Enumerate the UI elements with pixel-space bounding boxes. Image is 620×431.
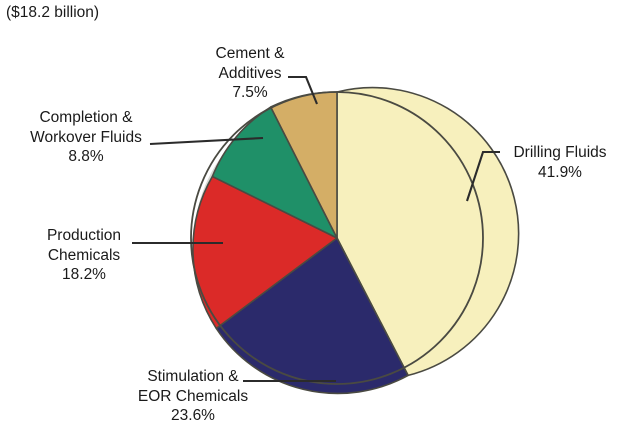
slice-label-completion-workover-fluids-percent: 8.8% bbox=[8, 147, 164, 167]
slice-label-drilling-fluids-line1: Drilling Fluids bbox=[504, 143, 616, 163]
slice-label-stimulation-eor-chemicals-line2: EOR Chemicals bbox=[108, 387, 278, 407]
slice-label-stimulation-eor-chemicals-percent: 23.6% bbox=[108, 406, 278, 426]
slice-label-drilling-fluids-percent: 41.9% bbox=[504, 163, 616, 183]
slice-label-cement-additives-line2: Additives bbox=[196, 64, 304, 84]
slice-label-cement-additives-percent: 7.5% bbox=[196, 83, 304, 103]
slice-label-stimulation-eor-chemicals: Stimulation & EOR Chemicals 23.6% bbox=[108, 367, 278, 426]
slice-label-production-chemicals-percent: 18.2% bbox=[20, 265, 148, 285]
pie-chart-figure: ($18.2 billion) Cem bbox=[0, 0, 620, 431]
slice-label-cement-additives: Cement & Additives 7.5% bbox=[196, 44, 304, 103]
slice-label-production-chemicals-line1: Production bbox=[20, 226, 148, 246]
slice-label-drilling-fluids: Drilling Fluids 41.9% bbox=[504, 143, 616, 182]
slice-label-production-chemicals: Production Chemicals 18.2% bbox=[20, 226, 148, 285]
slice-label-completion-workover-fluids: Completion & Workover Fluids 8.8% bbox=[8, 108, 164, 167]
slice-label-completion-workover-fluids-line1: Completion & bbox=[8, 108, 164, 128]
slice-label-completion-workover-fluids-line2: Workover Fluids bbox=[8, 128, 164, 148]
slice-label-cement-additives-line1: Cement & bbox=[196, 44, 304, 64]
slice-label-production-chemicals-line2: Chemicals bbox=[20, 246, 148, 266]
slice-label-stimulation-eor-chemicals-line1: Stimulation & bbox=[108, 367, 278, 387]
pie-chart-graphic bbox=[0, 0, 620, 431]
